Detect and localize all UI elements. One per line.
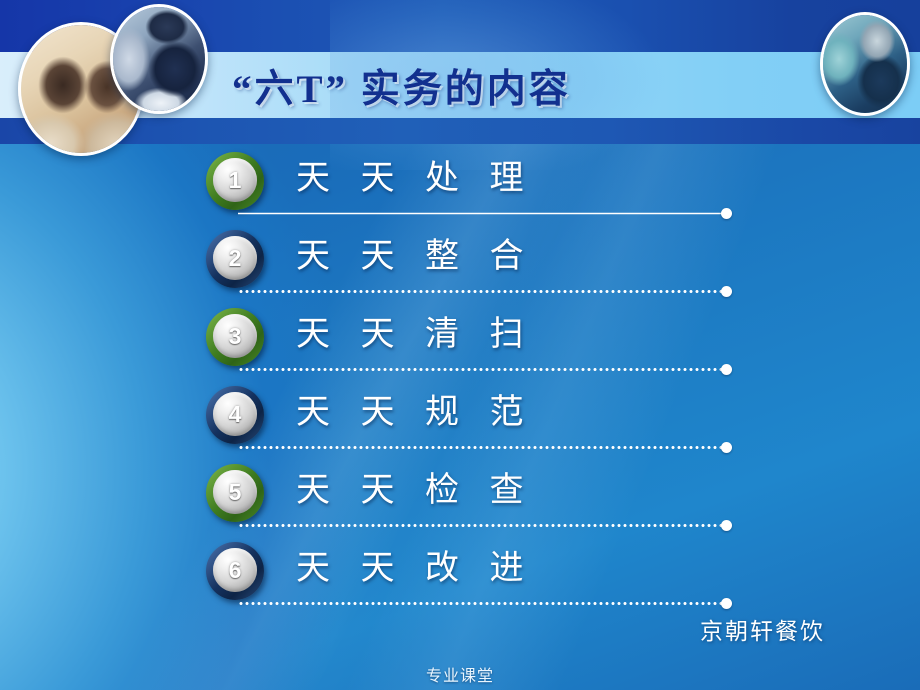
content-list: 1 天 天 处 理 2 天 天 整 合 [0, 144, 920, 612]
badge-inner-disc: 2 [213, 236, 257, 280]
list-item-label: 天 天 检 查 [296, 462, 535, 511]
list-item[interactable]: 4 天 天 规 范 [0, 378, 920, 456]
list-item-label: 天 天 整 合 [296, 228, 535, 277]
list-item-badge-1[interactable]: 1 [206, 152, 264, 210]
rule-end-dot-icon [721, 208, 732, 219]
list-item-label: 天 天 改 进 [296, 540, 535, 589]
photo-presenter [820, 12, 910, 116]
photo-handshake-image [113, 7, 205, 111]
list-item-badge-6[interactable]: 6 [206, 542, 264, 600]
footer-note: 专业课堂 [0, 662, 920, 686]
list-item-label: 天 天 规 范 [296, 384, 535, 433]
badge-inner-disc: 6 [213, 548, 257, 592]
list-item-rule [238, 602, 727, 605]
photo-handshake [110, 4, 208, 114]
list-item[interactable]: 6 天 天 改 进 [0, 534, 920, 612]
list-item-rule [238, 446, 727, 449]
list-item-rule [238, 290, 727, 293]
list-item[interactable]: 1 天 天 处 理 [0, 144, 920, 222]
list-item-badge-5[interactable]: 5 [206, 464, 264, 522]
badge-inner-disc: 5 [213, 470, 257, 514]
rule-end-dot-icon [721, 598, 732, 609]
badge-number: 3 [229, 325, 242, 348]
list-item-badge-4[interactable]: 4 [206, 386, 264, 444]
list-item-badge-3[interactable]: 3 [206, 308, 264, 366]
slide-canvas: “六T” 实务的内容 1 天 天 处 理 2 天 天 整 合 [0, 0, 920, 690]
badge-number: 2 [229, 247, 242, 270]
list-item-badge-2[interactable]: 2 [206, 230, 264, 288]
badge-number: 4 [229, 403, 242, 426]
list-item-rule [238, 212, 727, 215]
list-item[interactable]: 5 天 天 检 查 [0, 456, 920, 534]
list-item-label: 天 天 处 理 [296, 150, 535, 199]
brand-label: 京朝轩餐饮 [700, 612, 825, 646]
rule-end-dot-icon [721, 442, 732, 453]
badge-inner-disc: 4 [213, 392, 257, 436]
rule-end-dot-icon [721, 520, 732, 531]
rule-end-dot-icon [721, 364, 732, 375]
list-item[interactable]: 2 天 天 整 合 [0, 222, 920, 300]
list-item-label: 天 天 清 扫 [296, 306, 535, 355]
rule-end-dot-icon [721, 286, 732, 297]
badge-inner-disc: 1 [213, 158, 257, 202]
photo-presenter-image [823, 15, 907, 113]
list-item[interactable]: 3 天 天 清 扫 [0, 300, 920, 378]
list-item-rule [238, 524, 727, 527]
badge-number: 1 [229, 169, 242, 192]
page-title: “六T” 实务的内容 [232, 58, 571, 114]
list-item-rule [238, 368, 727, 371]
badge-number: 5 [229, 481, 242, 504]
badge-number: 6 [229, 559, 242, 582]
badge-inner-disc: 3 [213, 314, 257, 358]
